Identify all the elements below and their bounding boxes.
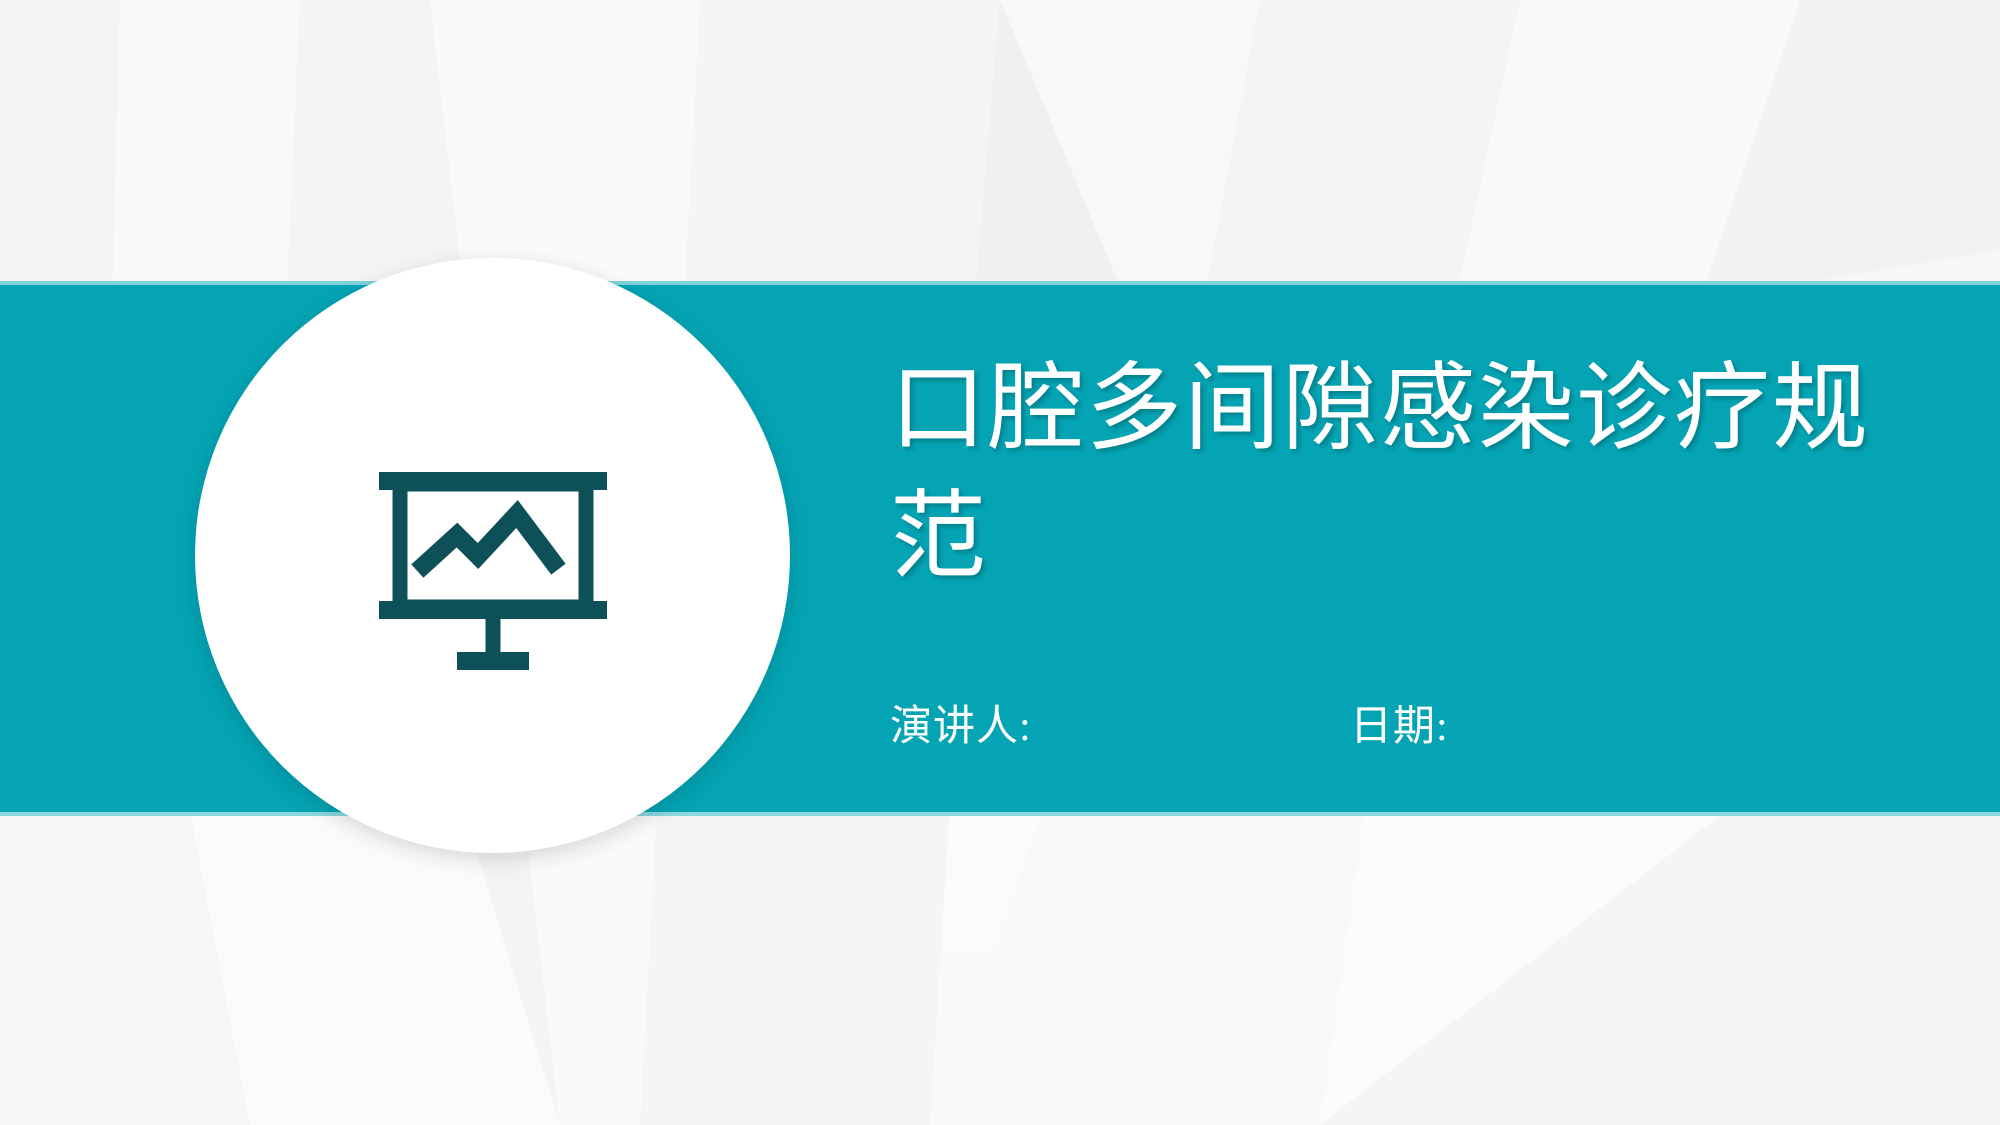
band-bottom-accent-line bbox=[0, 812, 2000, 816]
icon-circle-badge bbox=[195, 258, 790, 853]
date-label: 日期: bbox=[1350, 704, 1449, 750]
presentation-screen-icon bbox=[343, 406, 643, 706]
presenter-label: 演讲人: bbox=[890, 704, 1032, 750]
page-title-line-1: 口腔多间隙感染诊疗规 bbox=[890, 345, 1910, 473]
page-title: 口腔多间隙感染诊疗规 范 bbox=[890, 345, 1910, 600]
title-slide: 口腔多间隙感染诊疗规 范 演讲人: 日期: bbox=[0, 0, 2000, 1125]
page-title-line-2: 范 bbox=[890, 473, 1910, 601]
presenter-field[interactable]: 演讲人: bbox=[890, 692, 1350, 753]
date-field[interactable]: 日期: bbox=[1350, 692, 1810, 753]
slide-meta-row: 演讲人: 日期: bbox=[890, 692, 1910, 753]
